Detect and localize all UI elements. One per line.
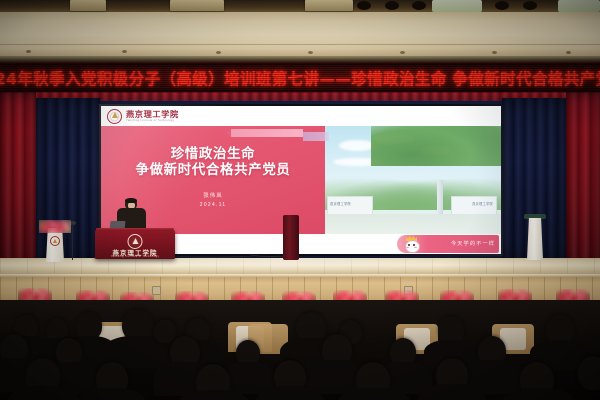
presenter-hair (125, 198, 137, 203)
ceiling-fixture (216, 51, 221, 54)
ceiling-panel (70, 0, 106, 11)
ceiling-downlight (412, 1, 426, 10)
ceiling-fixture (400, 51, 405, 54)
stage-curtain-right (566, 92, 600, 267)
presenter: 燕京理工学院 Yanching Institute of Technology (92, 196, 176, 260)
slide-footer-badge: 今天学的不一样 (397, 235, 499, 253)
mascot-icon (402, 235, 422, 253)
audience-head (578, 356, 600, 390)
ceiling-downlight (495, 1, 509, 10)
ceiling-downlight (432, 0, 482, 12)
ceiling-fixture (566, 51, 571, 54)
mascot-eye (408, 244, 410, 246)
led-banner: 2024年秋季入党积极分子（高级）培训班第七讲——珍惜政治生命 争做新时代合格共… (0, 62, 600, 94)
floor-cable (248, 250, 294, 257)
university-logo-icon (107, 109, 122, 124)
podium-flower-arrangement (39, 220, 71, 233)
podium-emblem-icon (50, 236, 60, 246)
lectern-emblem-icon (128, 234, 143, 249)
tree-canopy (371, 126, 501, 166)
slide-institution-name-cn: 燕京理工学院 (126, 110, 179, 118)
slide-title-line1: 珍惜政治生命 (171, 147, 256, 162)
microphone-stand (72, 224, 73, 260)
audience-area (0, 300, 600, 400)
ceiling-panel (170, 0, 224, 11)
cloud (339, 140, 375, 151)
stage-curtain-left (0, 92, 36, 267)
ceiling-downlight (357, 1, 371, 10)
mascot-cheek (406, 247, 409, 249)
led-banner-text: 2024年秋季入党积极分子（高级）培训班第七讲——珍惜政治生命 争做新时代合格共… (0, 67, 600, 89)
ceiling-fixture (122, 50, 127, 53)
slide-campus-photo: 燕京理工学院 燕京理工学院 (325, 126, 501, 234)
ceiling-downlight (523, 1, 537, 10)
campus-ground (325, 214, 501, 234)
campus-building-sign-right: 燕京理工学院 (472, 201, 493, 206)
mascot-eye (413, 244, 415, 246)
lecture-hall-photo: 2024年秋季入党积极分子（高级）培训班第七讲——珍惜政治生命 争做新时代合格共… (0, 0, 600, 400)
slide-footer-badge-text: 今天学的不一样 (451, 240, 495, 247)
mascot-cheek (414, 247, 417, 249)
white-podium-right (527, 218, 543, 260)
lectern-institution-en: Yanching Institute of Technology (95, 255, 175, 258)
stage-floor-reflection (0, 258, 600, 275)
slide-ribbon-tail (303, 132, 329, 141)
audience-head (154, 319, 176, 343)
slide-title: 珍惜政治生命 争做新时代合格共产党员 (101, 147, 325, 180)
ceiling-downlight (558, 0, 600, 12)
lectern-top-edge (96, 228, 174, 231)
slide-institution-name-en: Yanching Institute of Technology (126, 120, 179, 123)
ceiling-downlight (385, 1, 399, 10)
lectern: 燕京理工学院 Yanching Institute of Technology (95, 230, 175, 259)
ceiling-fixture (492, 51, 497, 54)
campus-building-sign-left: 燕京理工学院 (330, 201, 351, 206)
ceiling-seam (0, 44, 600, 45)
slide-title-line2: 争做新时代合格共产党员 (101, 163, 325, 179)
ceiling (0, 0, 600, 62)
ceiling-panel (305, 0, 353, 11)
slide-header: 燕京理工学院 Yanching Institute of Technology (101, 106, 501, 126)
slide-logo-text: 燕京理工学院 Yanching Institute of Technology (126, 110, 179, 122)
ceiling-fixture (308, 51, 313, 54)
ceiling-fixture (26, 50, 31, 53)
slide-ribbon-decoration (231, 129, 303, 137)
white-podium-left (43, 216, 67, 262)
